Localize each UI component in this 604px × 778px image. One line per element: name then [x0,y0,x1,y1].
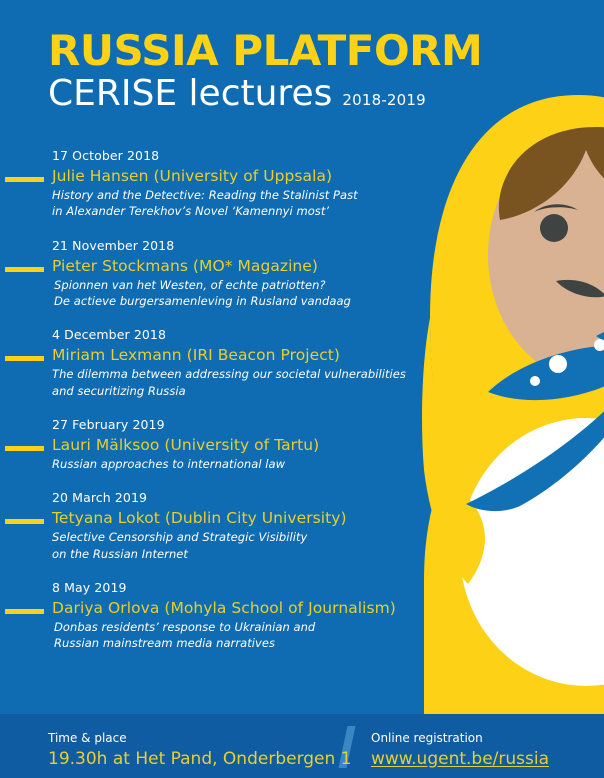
lecture-date: 20 March 2019 [52,490,420,507]
lecture-topic-line: De actieve burgersamenleving in Rusland … [52,293,420,309]
doll-decoration-dot-1 [530,376,540,386]
bullet-dash-icon [5,177,44,182]
lecture-speaker: Pieter Stockmans (MO* Magazine) [52,256,420,276]
list-item: 20 March 2019 Tetyana Lokot (Dublin City… [0,490,420,562]
poster-footer: Time & place 19.30h at Het Pand, Onderbe… [0,714,604,778]
doll-apron [460,418,604,686]
lecture-speaker: Tetyana Lokot (Dublin City University) [52,508,420,528]
lecture-topic-line: Russian mainstream media narratives [52,635,420,651]
list-item: 8 May 2019 Dariya Orlova (Mohyla School … [0,580,420,652]
page-title: RUSSIA PLATFORM [48,30,482,73]
doll-headscarf [430,95,604,500]
lecture-date: 21 November 2018 [52,238,420,255]
footer-time-place-block: Time & place 19.30h at Het Pand, Onderbe… [48,730,352,770]
time-place-label: Time & place [48,730,352,747]
academic-year-label: 2018-2019 [342,91,426,109]
lecture-topic-line: on the Russian Internet [52,546,420,562]
list-item: 21 November 2018 Pieter Stockmans (MO* M… [0,238,420,310]
list-item: 17 October 2018 Julie Hansen (University… [0,148,420,220]
bullet-dash-icon [5,609,44,614]
time-place-value: 19.30h at Het Pand, Onderbergen 1 [48,749,352,770]
doll-decoration-dot-3 [594,339,604,351]
registration-link[interactable]: www.ugent.be/russia [371,749,549,770]
doll-eye [540,214,568,242]
page-subtitle: CERISE lectures [48,75,332,113]
poster-header: RUSSIA PLATFORM CERISE lectures 2018-201… [48,30,482,113]
registration-label: Online registration [371,730,549,747]
lecture-speaker: Julie Hansen (University of Uppsala) [52,166,420,186]
poster-root: RUSSIA PLATFORM CERISE lectures 2018-201… [0,0,604,778]
lecture-topic-line: Spionnen van het Westen, of echte patrio… [52,277,420,293]
lecture-date: 17 October 2018 [52,148,420,165]
lecture-topic-line: Selective Censorship and Strategic Visib… [52,529,420,545]
lecture-topic-line: History and the Detective: Reading the S… [52,187,420,203]
lecture-date: 8 May 2019 [52,580,420,597]
footer-registration-block: Online registration www.ugent.be/russia [371,730,549,770]
lecture-list: 17 October 2018 Julie Hansen (University… [0,148,420,670]
doll-decoration-leaf-2 [596,317,604,355]
lecture-topic-line: in Alexander Terekhov’s Novel ‘Kamennyi … [52,203,420,219]
lecture-date: 27 February 2019 [52,417,420,434]
doll-hair [499,127,604,232]
doll-scarf-end [422,318,485,584]
list-item: 4 December 2018 Miriam Lexmann (IRI Beac… [0,327,420,399]
lecture-topic-line: The dilemma between addressing our socie… [52,366,420,382]
lecture-speaker: Dariya Orlova (Mohyla School of Journali… [52,598,420,618]
doll-body [424,402,604,714]
bullet-dash-icon [5,519,44,524]
doll-decoration-stripe [466,372,604,511]
bullet-dash-icon [5,267,44,272]
doll-face [488,127,604,383]
doll-eyebrow [534,204,578,212]
bullet-dash-icon [5,356,44,361]
lecture-topic-line: and securitizing Russia [52,383,420,399]
lecture-date: 4 December 2018 [52,327,420,344]
doll-smile [556,280,604,297]
lecture-speaker: Miriam Lexmann (IRI Beacon Project) [52,345,420,365]
list-item: 27 February 2019 Lauri Mälksoo (Universi… [0,417,420,472]
lecture-topic-line: Donbas residents’ response to Ukrainian … [52,619,420,635]
lecture-topic-line: Russian approaches to international law [52,456,420,472]
doll-decoration-dot-2 [549,355,567,373]
bullet-dash-icon [5,446,44,451]
subtitle-row: CERISE lectures 2018-2019 [48,75,482,113]
doll-decoration-leaf-1 [488,345,604,400]
lecture-speaker: Lauri Mälksoo (University of Tartu) [52,435,420,455]
